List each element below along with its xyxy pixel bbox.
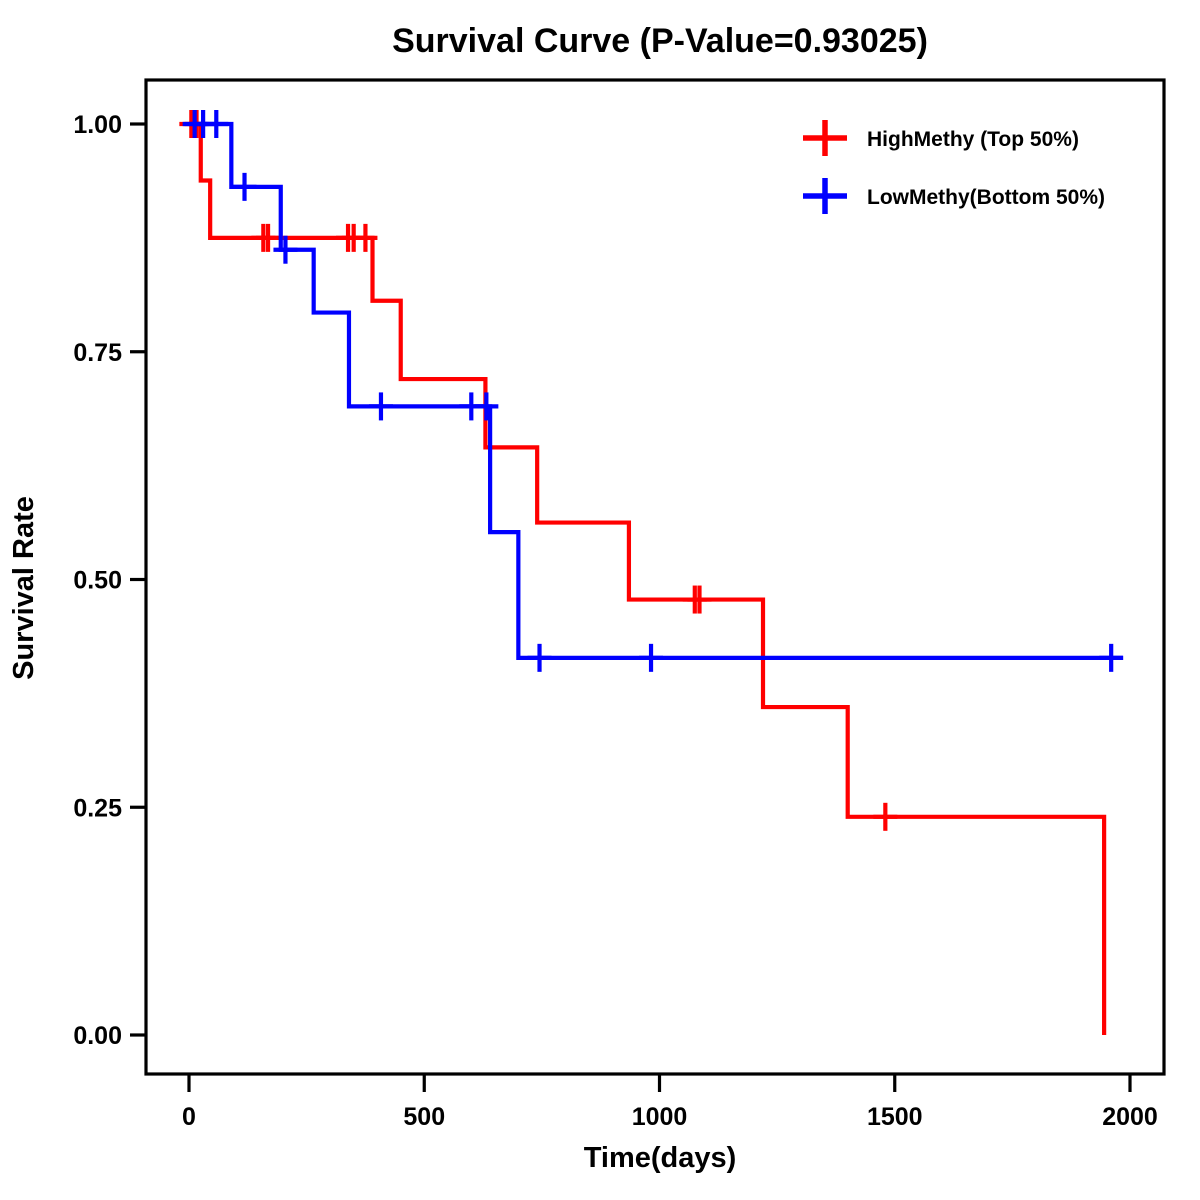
x-tick-label: 500 (403, 1103, 445, 1131)
y-tick-label: 1.00 (73, 111, 122, 139)
legend-label: HighMethy (Top 50%) (867, 128, 1079, 151)
x-axis-title: Time(days) (584, 1142, 737, 1174)
x-tick-label: 1500 (867, 1103, 923, 1131)
y-tick-label: 0.75 (73, 339, 122, 367)
page-title: Survival Curve (P-Value=0.93025) (392, 22, 928, 60)
y-tick-label: 0.00 (73, 1022, 122, 1050)
chart-canvas: Survival Curve (P-Value=0.93025) Surviva… (0, 0, 1200, 1200)
x-tick-label: 0 (182, 1103, 196, 1131)
y-tick-label: 0.25 (73, 794, 122, 822)
y-axis-title: Survival Rate (8, 496, 40, 680)
x-tick-label: 1000 (632, 1103, 688, 1131)
survival-curve-figure: Survival Curve (P-Value=0.93025) Surviva… (0, 0, 1200, 1200)
figure-background (0, 0, 1200, 1200)
legend-label: LowMethy(Bottom 50%) (867, 186, 1105, 209)
y-tick-label: 0.50 (73, 567, 122, 595)
x-tick-label: 2000 (1102, 1103, 1158, 1131)
